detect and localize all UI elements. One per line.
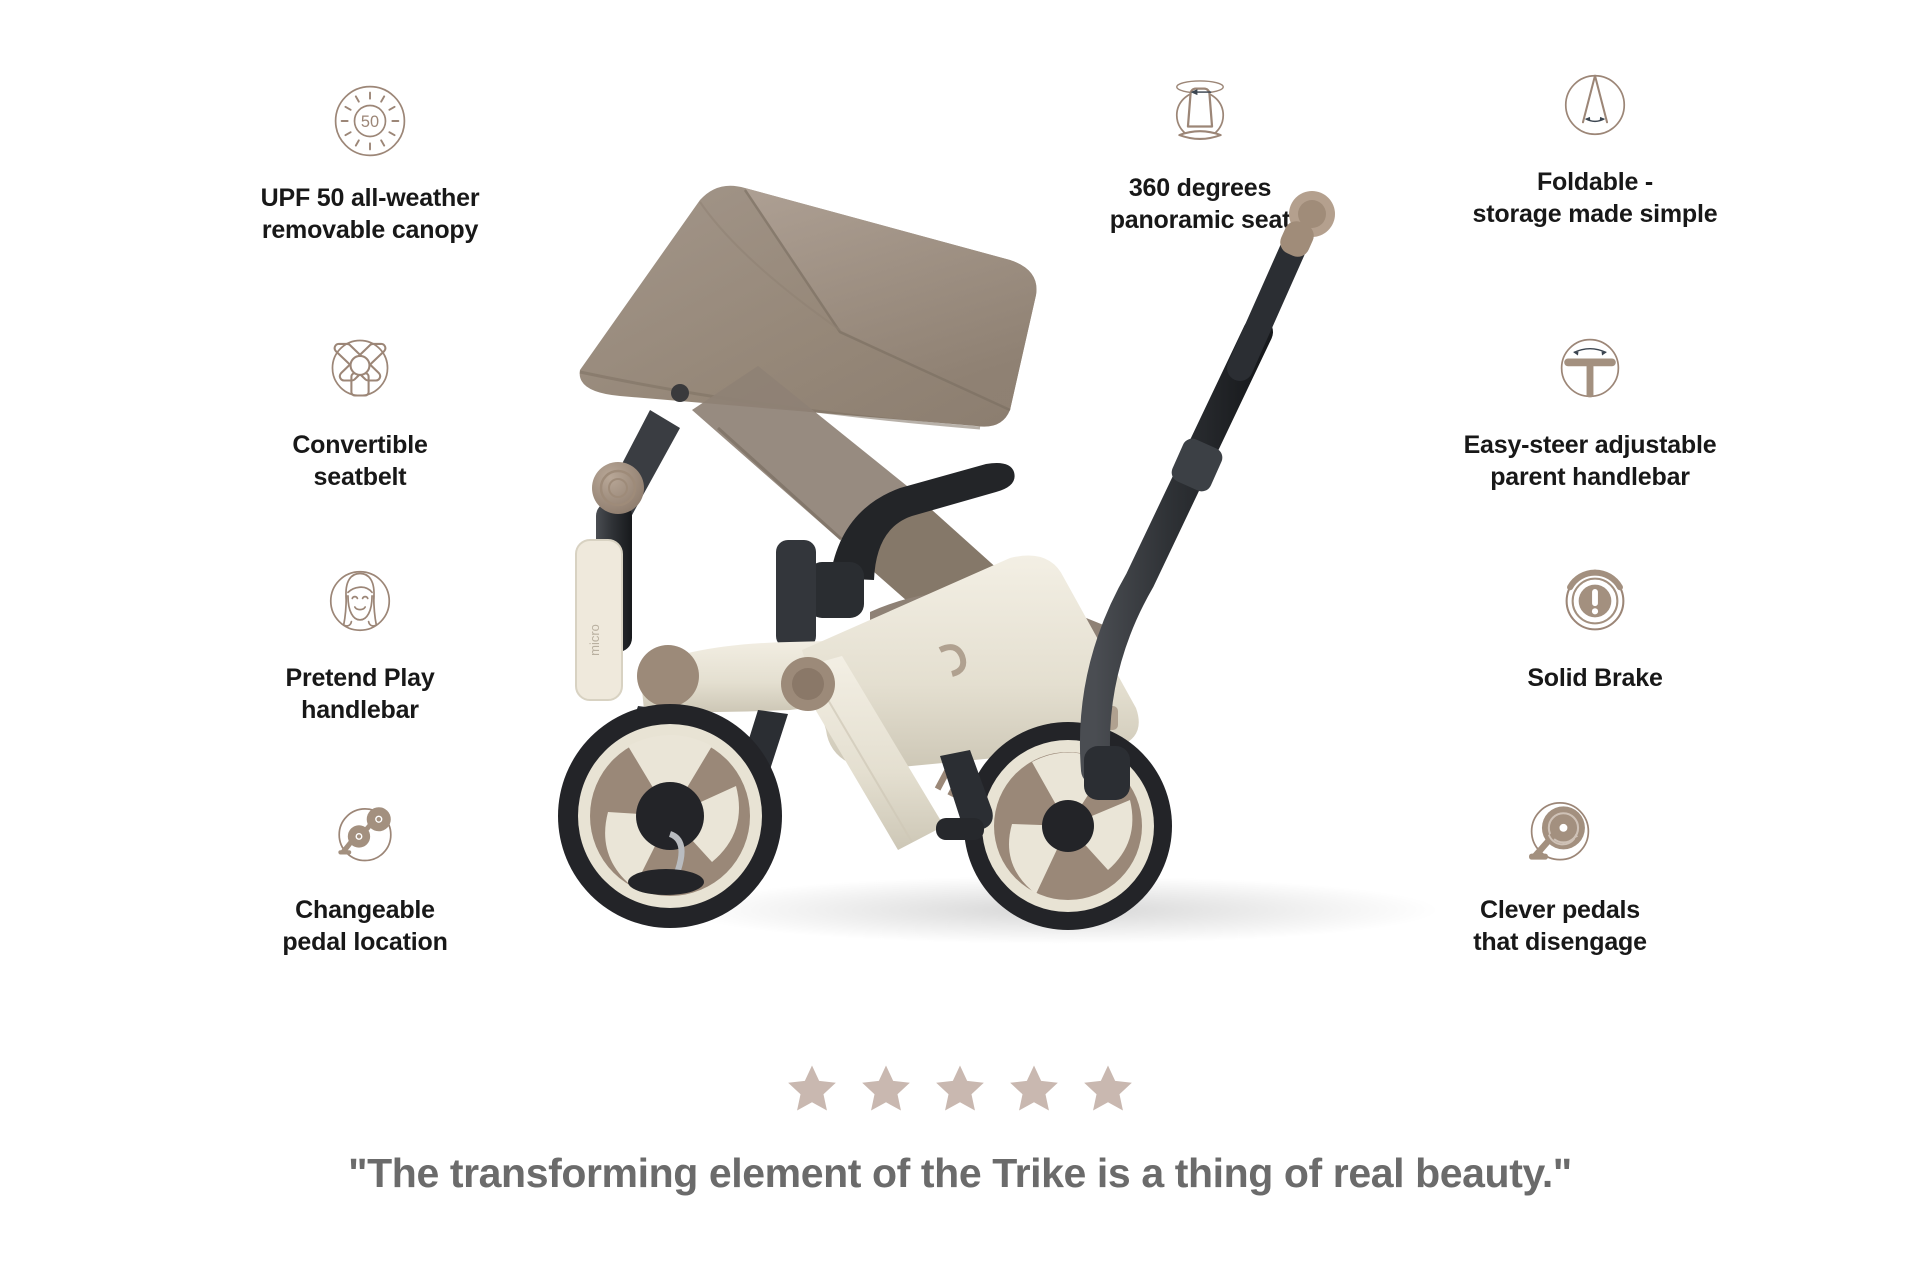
rear-wheel [964, 722, 1172, 930]
feature-changeable-pedal-location: Changeable pedal location [200, 790, 530, 958]
feature-label: Convertible seatbelt [195, 429, 525, 493]
star-icon [860, 1062, 912, 1114]
canopy [580, 186, 1037, 428]
review-quote: "The transforming element of the Trike i… [0, 1150, 1920, 1197]
feature-upf50: 50 UPF 50 all-weather removable canopy [205, 78, 535, 246]
star-rating [0, 1062, 1920, 1114]
star-icon [934, 1062, 986, 1114]
star-icon [1082, 1062, 1134, 1114]
two-pedals-icon [322, 790, 408, 876]
svg-text:50: 50 [361, 113, 379, 131]
feature-label: UPF 50 all-weather removable canopy [205, 182, 535, 246]
feature-label: Pretend Play handlebar [195, 662, 525, 726]
star-icon [1008, 1062, 1060, 1114]
product-image-micro-trike: micro m—cro [540, 110, 1600, 990]
feature-seatbelt: Convertible seatbelt [195, 325, 525, 493]
pretend-play-panel: micro [576, 540, 622, 700]
upf50-sun-icon: 50 [327, 78, 413, 164]
feature-pretend-play: Pretend Play handlebar [195, 558, 525, 726]
feature-label: Changeable pedal location [200, 894, 530, 958]
svg-text:micro: micro [587, 624, 602, 656]
handle-grip [1276, 191, 1335, 261]
harness-seatbelt-icon [317, 325, 403, 411]
front-wheel [558, 704, 782, 928]
swivel-knob [592, 462, 644, 514]
child-face-icon [317, 558, 403, 644]
star-icon [786, 1062, 838, 1114]
